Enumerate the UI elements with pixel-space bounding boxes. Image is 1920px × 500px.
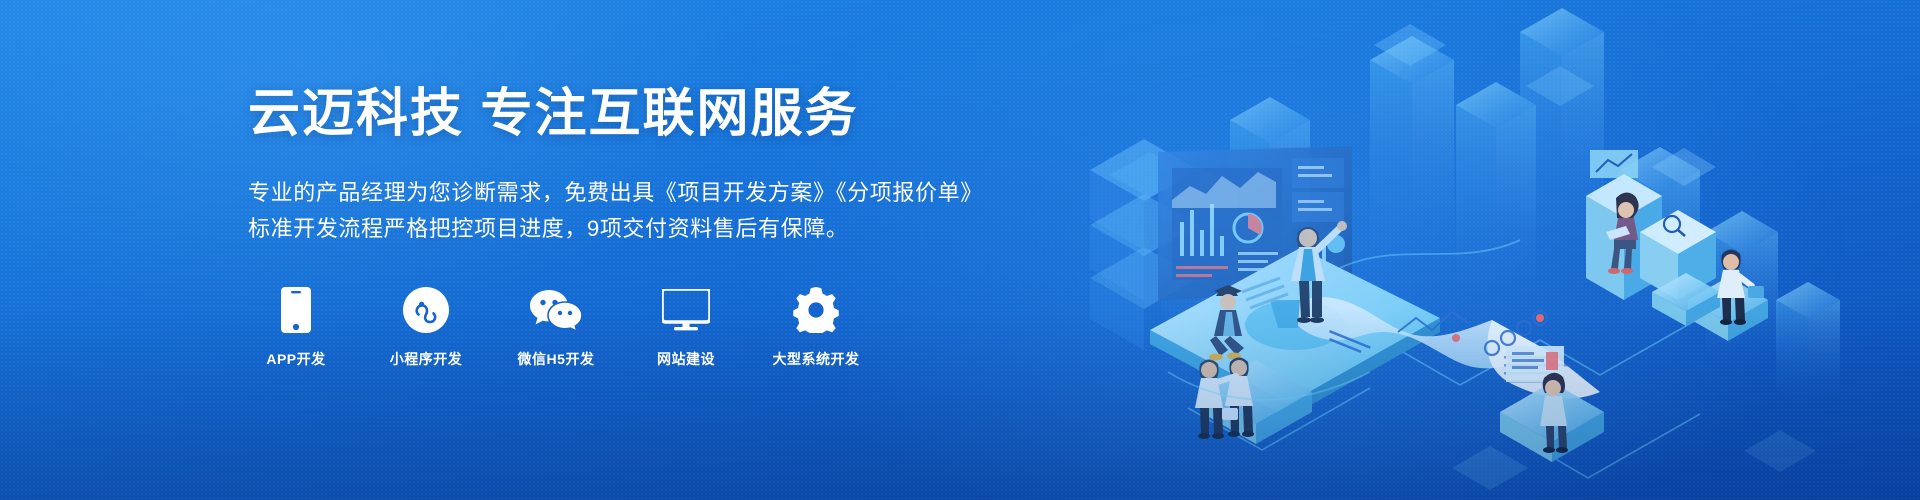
person-presenter xyxy=(1291,221,1347,323)
dashboard-screen xyxy=(1158,146,1370,300)
service-item-wechat-h5[interactable]: 微信H5开发 xyxy=(508,286,604,369)
person-briefcase xyxy=(1717,250,1764,326)
service-item-website[interactable]: 网站建设 xyxy=(638,286,734,369)
magnifier-cube xyxy=(1640,210,1716,300)
report-scroll xyxy=(1298,297,1600,398)
tile-bottom-right xyxy=(1500,382,1604,462)
service-label: 网站建设 xyxy=(657,349,715,369)
hero-banner: 云迈科技 专注互联网服务 专业的产品经理为您诊断需求，免费出具《项目开发方案》《… xyxy=(0,0,1920,500)
person-pair-left xyxy=(1195,358,1254,440)
service-list: APP开发 小程序开发 xyxy=(248,286,864,369)
service-item-app[interactable]: APP开发 xyxy=(248,286,344,369)
subtitle-line-2: 标准开发流程严格把控项目进度，9项交付资料售后有保障。 xyxy=(248,211,1108,247)
desktop-monitor-icon xyxy=(662,286,710,334)
tile-bottom-left xyxy=(1200,360,1312,444)
tile-right xyxy=(1688,277,1768,341)
phone-platform xyxy=(1150,248,1440,418)
light-glow-overlay xyxy=(0,0,1920,500)
service-label: 小程序开发 xyxy=(390,349,463,369)
pedestal-tall xyxy=(1586,174,1662,300)
service-item-large-system[interactable]: 大型系统开发 xyxy=(768,286,864,369)
page-title: 云迈科技 专注互联网服务 xyxy=(248,86,1108,143)
service-label: 微信H5开发 xyxy=(518,349,595,369)
service-label: 大型系统开发 xyxy=(773,349,860,369)
gear-icon xyxy=(793,286,839,334)
dot-pattern-overlay xyxy=(0,0,1920,500)
person-seated-laptop xyxy=(1606,192,1639,274)
service-item-mini-program[interactable]: 小程序开发 xyxy=(378,286,474,369)
mobile-phone-icon xyxy=(281,286,311,334)
floating-diamonds xyxy=(1110,24,1816,490)
mini-program-icon xyxy=(403,286,449,334)
isometric-tech-illustration xyxy=(900,0,1920,500)
subtitle-line-1: 专业的产品经理为您诊断需求，免费出具《项目开发方案》《分项报价单》 xyxy=(248,175,1108,211)
wechat-icon xyxy=(530,286,582,334)
service-label: APP开发 xyxy=(266,349,325,369)
person-seated-left xyxy=(1209,278,1288,361)
mini-monitor xyxy=(1506,346,1564,382)
hero-copy: 云迈科技 专注互联网服务 专业的产品经理为您诊断需求，免费出具《项目开发方案》《… xyxy=(248,86,1108,246)
person-standing-right xyxy=(1540,373,1568,453)
connector-lines xyxy=(1188,300,1700,478)
hero-subtitle: 专业的产品经理为您诊断需求，免费出具《项目开发方案》《分项报价单》 标准开发流程… xyxy=(248,175,1108,246)
background-city-bars xyxy=(1162,8,1840,408)
tile-right-small xyxy=(1652,273,1720,326)
floating-chart-card xyxy=(1590,150,1638,178)
